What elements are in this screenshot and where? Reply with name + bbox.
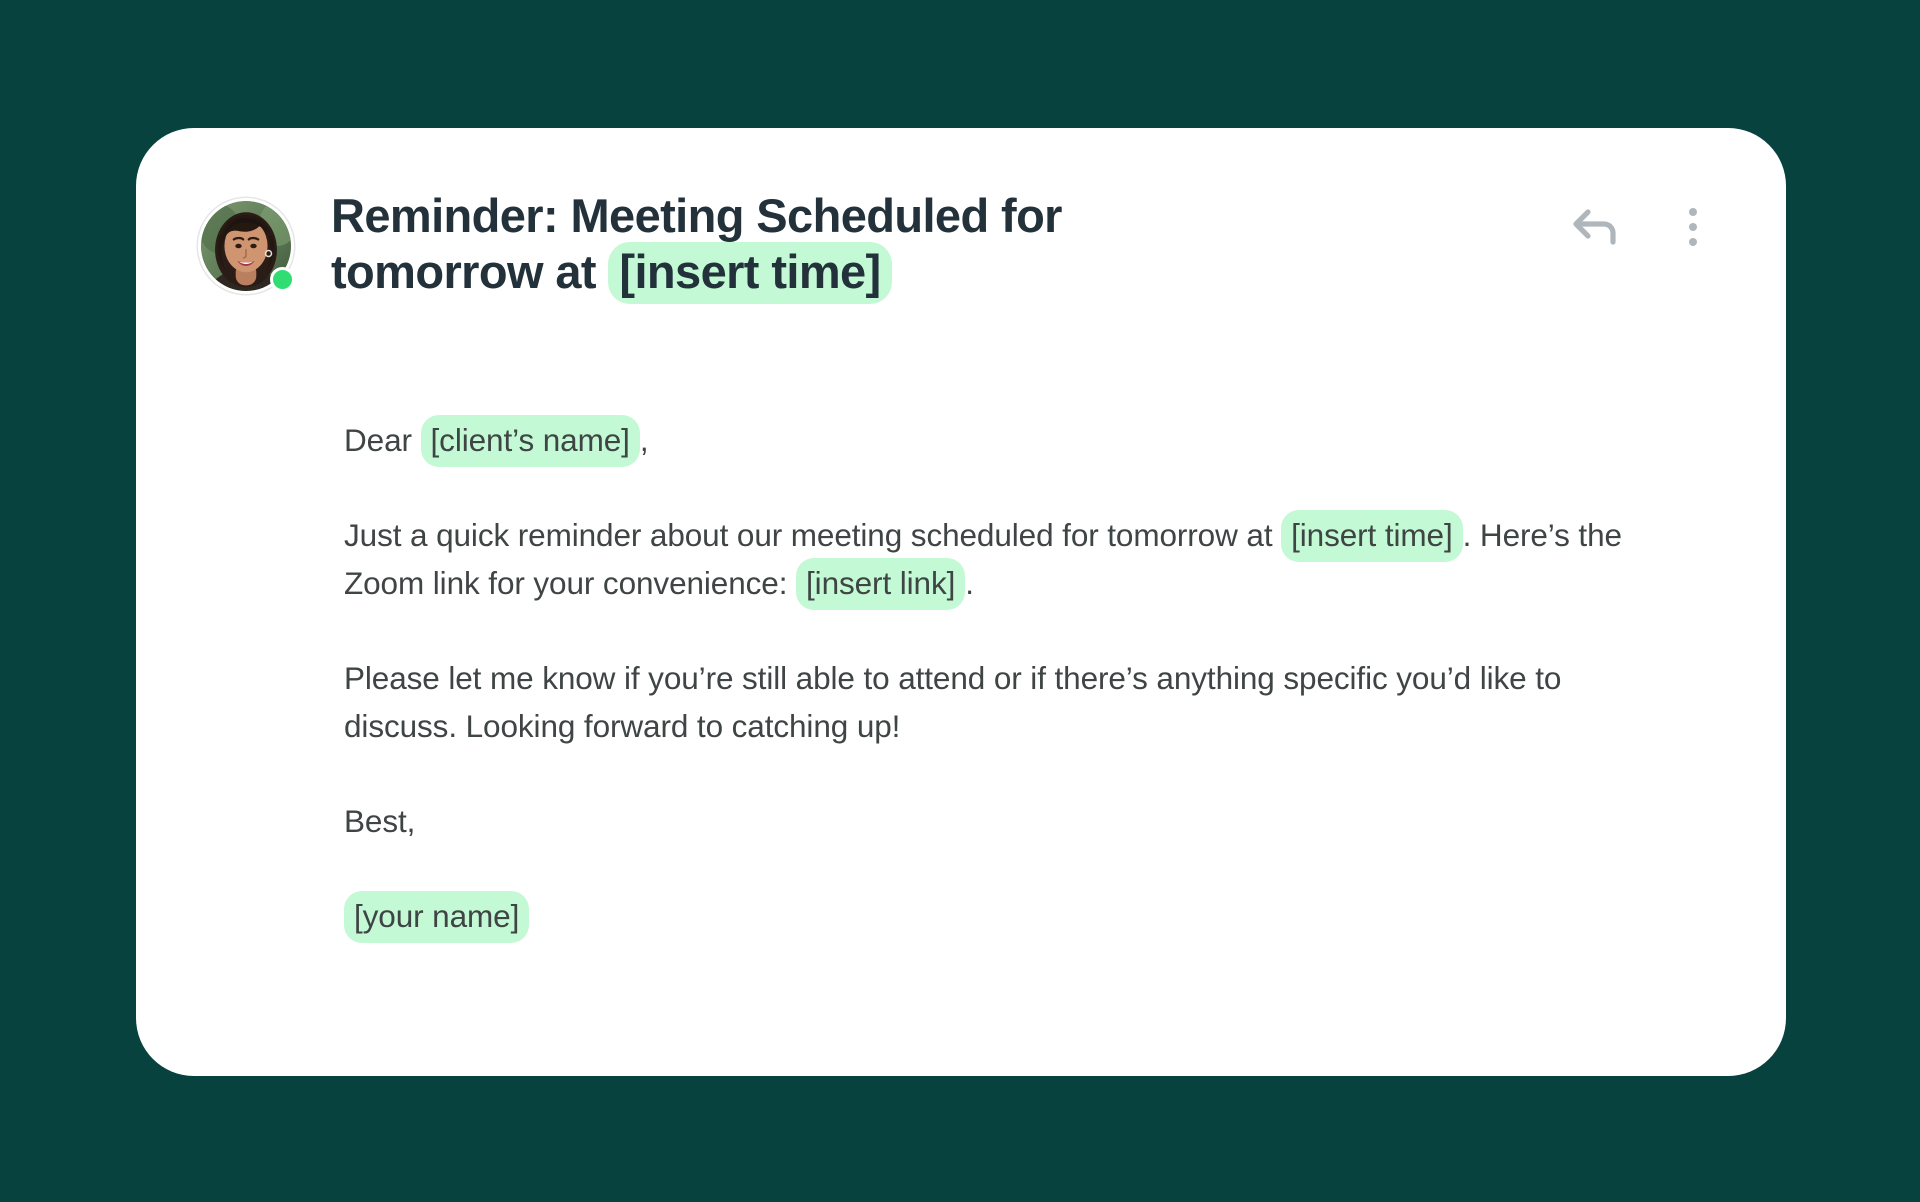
email-card: Reminder: Meeting Scheduled for tomorrow… bbox=[136, 128, 1786, 1076]
greeting-suffix: , bbox=[640, 422, 649, 458]
greeting-prefix: Dear bbox=[344, 422, 421, 458]
more-options-button[interactable] bbox=[1666, 200, 1720, 254]
greeting-paragraph: Dear [client’s name], bbox=[344, 416, 1634, 464]
paragraph-2: Please let me know if you’re still able … bbox=[344, 654, 1634, 750]
subject-placeholder-insert-time: [insert time] bbox=[608, 242, 891, 304]
kebab-menu-icon bbox=[1681, 208, 1705, 246]
screen-root: Reminder: Meeting Scheduled for tomorrow… bbox=[0, 0, 1920, 1202]
placeholder-insert-time: [insert time] bbox=[1281, 510, 1463, 562]
signature-paragraph: [your name] bbox=[344, 892, 1634, 940]
signoff: Best, bbox=[344, 797, 1634, 845]
email-header: Reminder: Meeting Scheduled for tomorrow… bbox=[136, 128, 1786, 300]
paragraph-1-part-1: Just a quick reminder about our meeting … bbox=[344, 517, 1281, 553]
reply-button[interactable] bbox=[1570, 200, 1624, 254]
placeholder-insert-link: [insert link] bbox=[796, 558, 965, 610]
header-actions bbox=[1570, 200, 1720, 254]
placeholder-client-name: [client’s name] bbox=[421, 415, 640, 467]
avatar[interactable] bbox=[198, 198, 294, 294]
placeholder-your-name: [your name] bbox=[344, 891, 529, 943]
page-title: Reminder: Meeting Scheduled for tomorrow… bbox=[331, 188, 1261, 300]
paragraph-1-part-3: . bbox=[965, 565, 974, 601]
reply-arrow-icon bbox=[1571, 204, 1623, 251]
status-online-indicator bbox=[270, 267, 295, 292]
paragraph-1: Just a quick reminder about our meeting … bbox=[344, 511, 1634, 607]
email-body: Dear [client’s name], Just a quick remin… bbox=[344, 416, 1634, 940]
